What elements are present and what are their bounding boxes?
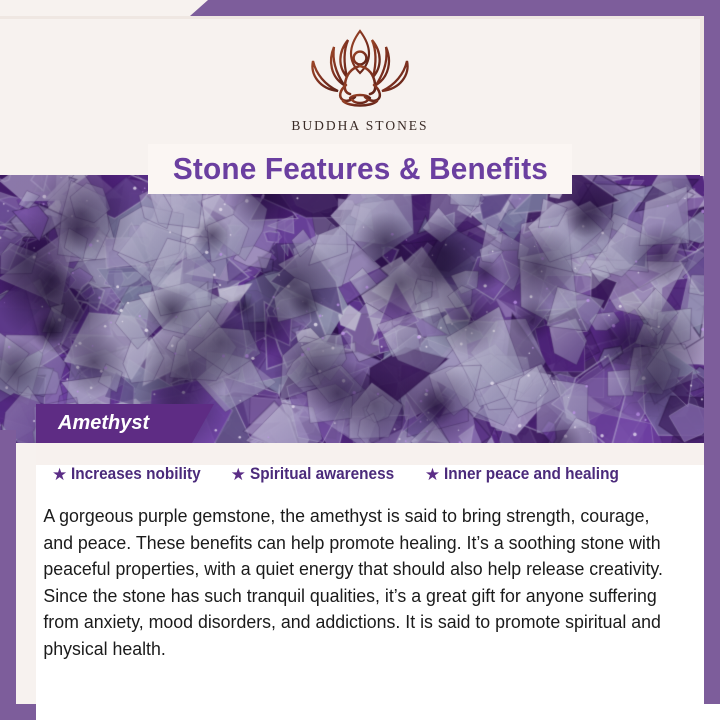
frame-border-right [704, 0, 720, 720]
page-title-band: Stone Features & Benefits [148, 144, 572, 194]
amethyst-crystal-cluster-photo [0, 175, 720, 443]
content-top-tint [36, 443, 720, 465]
benefit-item: ★ Increases nobility [52, 465, 211, 484]
content-panel: ★ Increases nobility ★ Spiritual awarene… [36, 443, 720, 720]
benefit-label: Spiritual awareness [250, 465, 394, 484]
frame-border-left [0, 430, 16, 720]
frame-border-top [190, 0, 720, 16]
header: BUDDHA STONES Stone Features & Benefits [0, 19, 720, 175]
stone-name: Amethyst [36, 412, 149, 435]
stone-name-banner: Amethyst [36, 404, 214, 443]
benefit-item: ★ Spiritual awareness [231, 465, 405, 484]
benefit-label: Inner peace and healing [444, 465, 619, 484]
star-icon: ★ [425, 466, 440, 483]
benefit-label: Increases nobility [71, 465, 201, 484]
brand-logo: BUDDHA STONES [0, 27, 720, 134]
star-icon: ★ [231, 466, 246, 483]
stone-photo [0, 175, 720, 443]
lotus-meditation-icon [286, 27, 434, 115]
frame-hairline-top [0, 16, 720, 19]
frame-border-bottom-mask [36, 704, 720, 720]
stone-description: A gorgeous purple gemstone, the amethyst… [30, 503, 677, 662]
benefit-item: ★ Inner peace and healing [425, 465, 632, 484]
page-title: Stone Features & Benefits [172, 151, 547, 187]
star-icon: ★ [52, 466, 67, 483]
infographic-page: BUDDHA STONES Stone Features & Benefits … [0, 0, 720, 720]
brand-name: BUDDHA STONES [0, 118, 720, 134]
benefits-list: ★ Increases nobility ★ Spiritual awarene… [36, 465, 720, 484]
